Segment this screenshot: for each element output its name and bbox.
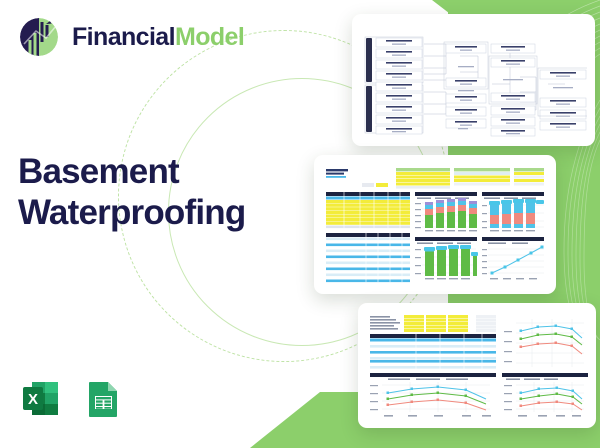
brand-logo: FinancialModel <box>16 14 244 60</box>
google-sheets-icon <box>80 376 126 422</box>
promo-canvas: FinancialModel Basement Waterproofing X <box>0 0 600 448</box>
financial-dashboard-preview[interactable] <box>314 155 556 294</box>
excel-icon: X <box>18 376 64 422</box>
financial-model-circle-chart-logo <box>16 14 62 60</box>
brand-wordmark: FinancialModel <box>72 25 244 50</box>
brand-name-accent: Model <box>175 23 244 51</box>
margin-trend-preview[interactable] <box>358 303 596 428</box>
svg-text:X: X <box>28 391 38 408</box>
financial-ratio-tree-preview[interactable] <box>352 14 595 146</box>
brand-name-primary: Financial <box>72 23 175 51</box>
file-format-icons: X <box>18 376 126 422</box>
page-title: Basement Waterproofing <box>18 152 264 233</box>
